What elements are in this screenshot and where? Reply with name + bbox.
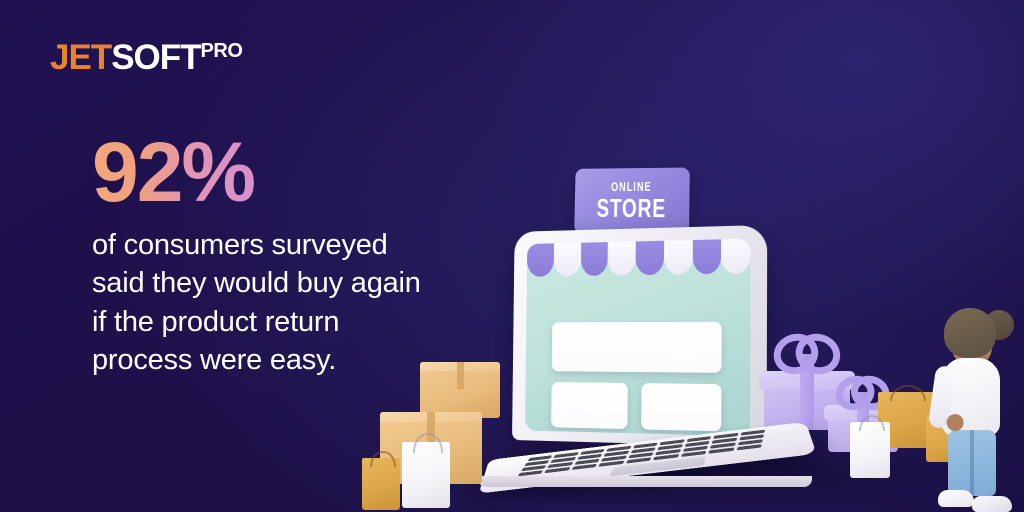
awning-segment <box>636 241 664 275</box>
shopping-bag-orange <box>362 458 400 510</box>
bag-handle <box>890 385 925 402</box>
awning-segment <box>608 241 636 275</box>
shopping-bag-white <box>850 422 890 478</box>
laptop-lid <box>512 225 767 447</box>
leg-split <box>970 430 974 496</box>
logo-text-soft: SOFT <box>111 38 200 77</box>
store-sign-line-1: ONLINE <box>611 180 652 193</box>
awning-segment <box>580 242 608 276</box>
shopper-character <box>930 308 1016 512</box>
shopping-bag-white <box>402 442 450 508</box>
screen-panel-right <box>641 383 722 431</box>
logo-text-jet: JET <box>50 38 111 77</box>
laptop-screen <box>525 239 751 437</box>
key <box>708 448 734 454</box>
awning-segment <box>664 240 693 275</box>
brand-logo: JETSOFTPRO <box>50 40 242 75</box>
logo-text-pro: PRO <box>201 40 243 62</box>
storefront-awning <box>527 239 751 277</box>
hair <box>944 308 996 358</box>
cardboard-box-small <box>420 362 500 418</box>
shoe-right <box>972 496 1012 512</box>
screen-panel-banner <box>551 321 722 372</box>
awning-segment <box>553 243 580 277</box>
illustration-scene: ONLINE STORE <box>330 140 1024 512</box>
awning-segment <box>721 239 751 274</box>
store-sign-line-2: STORE <box>596 195 666 223</box>
online-store-sign: ONLINE STORE <box>574 168 690 235</box>
screen-panel-left <box>551 382 628 429</box>
shoe-left <box>938 490 974 507</box>
key <box>736 444 762 450</box>
awning-segment <box>692 239 721 274</box>
gift-bow <box>773 334 840 360</box>
awning-segment <box>527 243 554 276</box>
arm <box>928 365 956 429</box>
stat-percentage: 92% <box>92 130 254 214</box>
promo-graphic: JETSOFTPRO 92% of consumers surveyed sai… <box>0 0 1024 512</box>
laptop-base-front-edge <box>478 476 812 487</box>
box-tape <box>457 362 464 389</box>
